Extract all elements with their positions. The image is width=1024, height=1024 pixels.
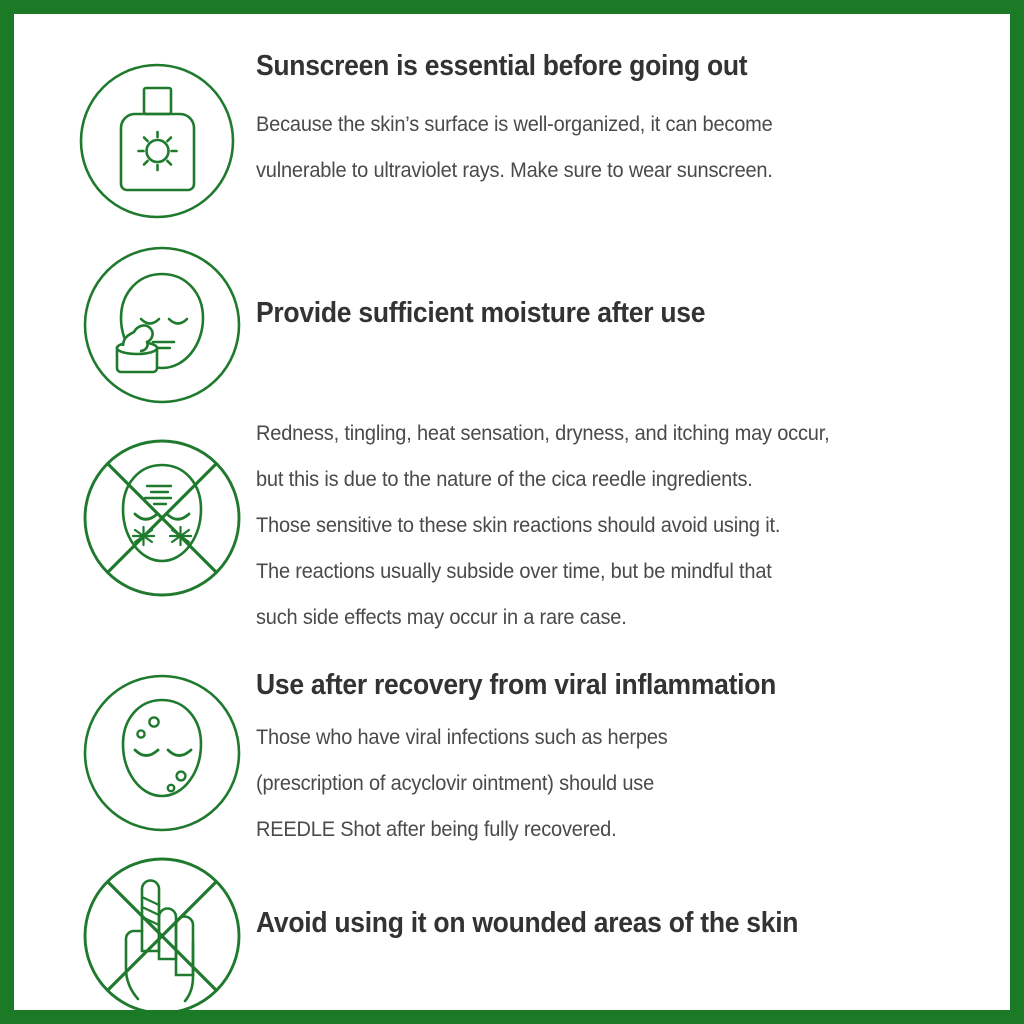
section-heading: Provide sufficient moisture after use	[256, 297, 705, 330]
section-moisture-text: Provide sufficient moisture after use	[256, 297, 739, 330]
sunscreen-bottle-icon	[73, 57, 241, 230]
section-viral-text: Use after recovery from viral inflammati…	[256, 669, 815, 852]
section-heading: Sunscreen is essential before going out	[256, 50, 773, 83]
section-body: Those who have viral infections such as …	[256, 714, 776, 852]
body-line: Those sensitive to these skin reactions …	[256, 502, 829, 548]
body-line: such side effects may occur in a rare ca…	[256, 594, 829, 640]
body-line: Because the skin’s surface is well-organ…	[256, 101, 773, 147]
body-line: The reactions usually subside over time,…	[256, 548, 829, 594]
no-irritated-face-icon	[73, 429, 251, 612]
body-line: (prescription of acyclovir ointment) sho…	[256, 760, 776, 806]
face-with-cream-jar-icon	[73, 236, 251, 419]
section-body: Redness, tingling, heat sensation, dryne…	[256, 410, 829, 640]
section-wounds-text: Avoid using it on wounded areas of the s…	[256, 907, 839, 940]
body-line: Those who have viral infections such as …	[256, 714, 776, 760]
info-card: Sunscreen is essential before going out …	[14, 14, 1010, 1010]
blemished-face-icon	[73, 664, 251, 847]
body-line: REEDLE Shot after being fully recovered.	[256, 806, 776, 852]
body-line: but this is due to the nature of the cic…	[256, 456, 829, 502]
section-reactions-text: Redness, tingling, heat sensation, dryne…	[256, 410, 873, 640]
section-sunscreen-text: Sunscreen is essential before going out …	[256, 50, 812, 193]
body-line: Redness, tingling, heat sensation, dryne…	[256, 410, 829, 456]
section-body: Because the skin’s surface is well-organ…	[256, 101, 773, 193]
section-heading: Use after recovery from viral inflammati…	[256, 669, 776, 702]
section-heading: Avoid using it on wounded areas of the s…	[256, 907, 798, 940]
body-line: vulnerable to ultraviolet rays. Make sur…	[256, 147, 773, 193]
no-hand-bandage-icon	[73, 847, 251, 1010]
